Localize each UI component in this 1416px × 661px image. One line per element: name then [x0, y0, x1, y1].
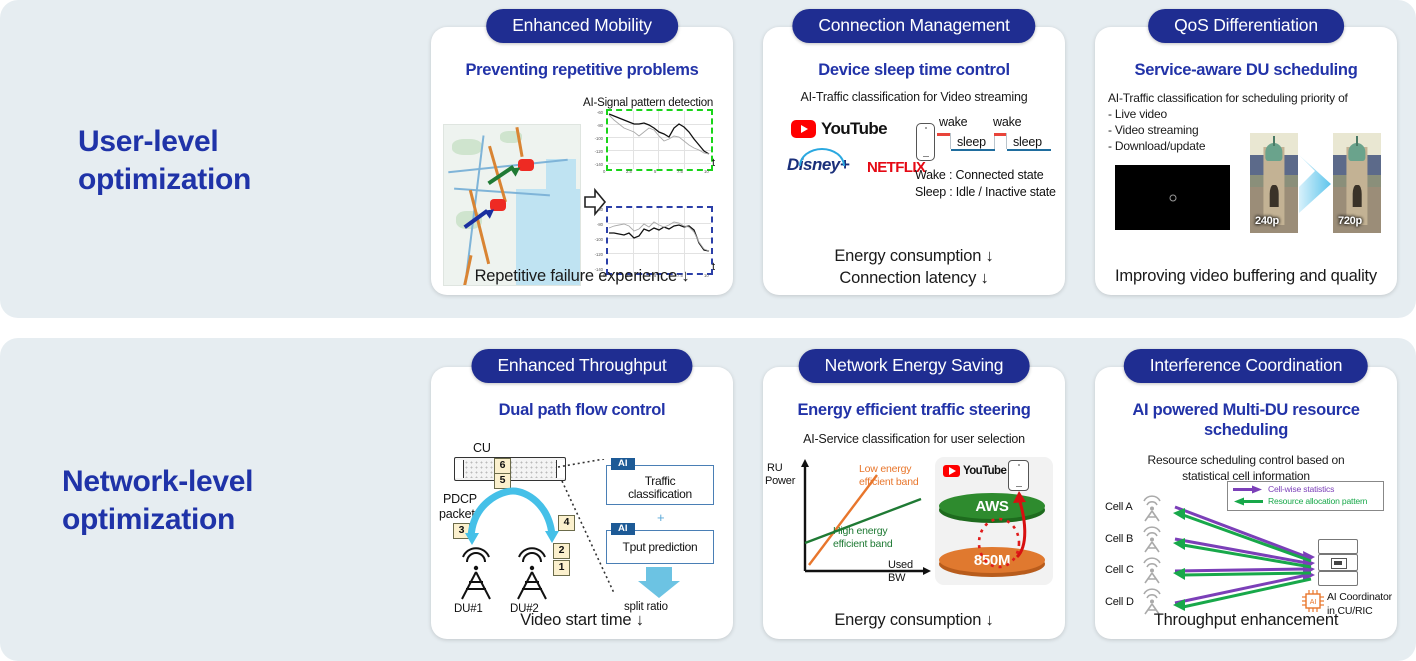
disney-arc [799, 148, 845, 166]
card-footer-interference-coordination: Throughput enhancement [1095, 610, 1397, 631]
card-footer-qos: Improving video buffering and quality [1095, 266, 1397, 287]
youtube-wordmark: YouTube [821, 119, 887, 139]
video-thumbnail-240p: 240p [1250, 133, 1298, 233]
plus-sign: + [657, 510, 665, 525]
card-title-qos-differentiation: QoS Differentiation [1148, 9, 1344, 43]
youtube-play-icon [791, 120, 816, 138]
card-enhanced-throughput[interactable]: Enhanced Throughput Dual path flow contr… [431, 367, 733, 639]
legend-sleep: Sleep : Idle / Inactive state [915, 184, 1056, 201]
rack-unit-middle [1318, 554, 1358, 571]
buffering-video-frame [1115, 165, 1230, 230]
y-axis-label-line2: Power [765, 475, 795, 487]
y-axis-label-line1: RU [767, 462, 783, 474]
wake-label-1: wake [939, 115, 967, 129]
card-title-enhanced-mobility: Enhanced Mobility [486, 9, 678, 43]
bullet-video-streaming: - Video streaming [1108, 123, 1198, 139]
card-footer-enhanced-mobility: Repetitive failure experience ↓ [431, 266, 733, 287]
legend-wake: Wake : Connected state [915, 167, 1044, 184]
card-subtitle-network-energy-saving: Energy efficient traffic steering [763, 400, 1065, 420]
wake-segment-1 [937, 133, 951, 136]
section-label-user-level: User-level optimization [78, 123, 378, 200]
cell-label-b: Cell B [1105, 533, 1133, 545]
legend-low-energy-line1: Low energy [859, 463, 911, 475]
card-footer-network-energy-saving: Energy consumption ↓ [763, 610, 1065, 631]
ai-box-tput-prediction: AI Tput prediction [606, 530, 714, 564]
card-enhanced-mobility[interactable]: Enhanced Mobility Preventing repetitive … [431, 27, 733, 295]
card-title-connection-management: Connection Management [792, 9, 1035, 43]
packet-6: 6 [494, 458, 511, 474]
sleep-label-2: sleep [1013, 135, 1042, 149]
cell-label-a: Cell A [1105, 501, 1133, 513]
footer-line-1: Energy consumption ↓ [763, 246, 1065, 267]
flow-arrow-icon [583, 187, 607, 217]
card-subtitle-interference-coordination: AI powered Multi-DU resource scheduling [1095, 400, 1397, 440]
legend-box: Cell-wise statistics Resource allocation… [1227, 481, 1384, 511]
card-title-network-energy-saving: Network Energy Saving [799, 349, 1030, 383]
card-subtitle-enhanced-throughput: Dual path flow control [431, 400, 733, 420]
card-qos-differentiation[interactable]: QoS Differentiation Service-aware DU sch… [1095, 27, 1397, 295]
legend-arrow-green-icon [1233, 497, 1263, 506]
cu-label: CU [473, 441, 491, 455]
section-label-line2: optimization [78, 161, 378, 199]
card-description-qos: AI-Traffic classification for scheduling… [1108, 91, 1393, 107]
legend-label-cell-wise: Cell-wise statistics [1268, 484, 1334, 494]
legend-label-resource-alloc: Resource allocation pattern [1268, 496, 1367, 506]
subtitle-line-2: scheduling [1095, 420, 1397, 440]
chart-axis-t: t [712, 157, 715, 169]
du2-tower-icon [509, 543, 555, 601]
card-connection-management[interactable]: Connection Management Device sleep time … [763, 27, 1065, 295]
subtitle-line-1: AI powered Multi-DU resource [1095, 400, 1397, 420]
split-flow-arrows [457, 485, 567, 545]
legend-arrow-purple-icon [1233, 485, 1263, 494]
cell-label-d: Cell D [1105, 596, 1134, 608]
card-description-connection-management: AI-Traffic classification for Video stre… [763, 89, 1065, 106]
phone-icon [916, 123, 935, 161]
svg-text:AI: AI [1310, 599, 1317, 606]
ai-box2-label: Tput prediction [607, 540, 713, 554]
card-footer-enhanced-throughput: Video start time ↓ [431, 610, 733, 631]
bullet-download-update: - Download/update [1108, 139, 1205, 155]
card-title-enhanced-throughput: Enhanced Throughput [471, 349, 692, 383]
section-label-line1: Network-level [62, 463, 382, 501]
video-thumbnail-720p: 720p [1333, 133, 1381, 233]
bullet-live-video: - Live video [1108, 107, 1167, 123]
quality-badge-before: 240p [1255, 215, 1279, 227]
youtube-logo: YouTube [791, 119, 887, 139]
map-green-area [452, 139, 482, 155]
card-network-energy-saving[interactable]: Network Energy Saving Energy efficient t… [763, 367, 1065, 639]
ai-tag: AI [611, 458, 635, 470]
sleep-label-1: sleep [957, 135, 986, 149]
map-thumbnail [443, 124, 581, 286]
section-label-line1: User-level [78, 123, 378, 161]
du1-tower-icon [453, 543, 499, 601]
steering-arrow-icon [971, 487, 1047, 571]
cell-label-c: Cell C [1105, 564, 1134, 576]
transition-1 [950, 133, 951, 149]
sleep-segment-2 [1007, 149, 1051, 151]
sleep-segment-1 [951, 149, 995, 151]
card-interference-coordination[interactable]: Interference Coordination AI powered Mul… [1095, 367, 1397, 639]
section-label-line2: optimization [62, 501, 382, 539]
x-axis-label-line1: Used [888, 559, 913, 571]
cell-tower-icons [1139, 495, 1165, 619]
youtube-play-icon [943, 465, 960, 477]
chart-caption-ai-signal: AI-Signal pattern detection [583, 97, 713, 109]
section-label-network-level: Network-level optimization [62, 463, 382, 540]
down-arrow-icon [636, 567, 682, 599]
ai-tag: AI [611, 523, 635, 535]
wake-label-2: wake [993, 115, 1021, 129]
youtube-wordmark: YouTube [963, 465, 1006, 477]
card-description-line1: Resource scheduling control based on [1095, 453, 1397, 469]
quality-badge-after: 720p [1338, 215, 1362, 227]
ai-box-traffic-classification: AI Traffic classification [606, 465, 714, 505]
youtube-logo: YouTube [943, 465, 1006, 477]
disney-plus-logo: Disney+ [787, 155, 849, 175]
legend-high-energy-line2: efficient band [833, 538, 892, 550]
footer-line-2: Connection latency ↓ [763, 268, 1065, 289]
ai-coordinator-line1: AI Coordinator [1327, 591, 1392, 604]
transition-3 [1006, 133, 1007, 149]
card-title-interference-coordination: Interference Coordination [1124, 349, 1368, 383]
card-subtitle-connection-management: Device sleep time control [763, 60, 1065, 80]
card-subtitle-enhanced-mobility: Preventing repetitive problems [431, 60, 733, 80]
legend-high-energy-line1: High energy [833, 525, 887, 537]
rack-unit-bottom [1318, 571, 1358, 586]
rack-unit-top [1318, 539, 1358, 554]
legend-low-energy-line2: efficient band [859, 476, 918, 488]
ai-box1-line2: classification [607, 487, 713, 501]
x-axis-label-line2: BW [888, 572, 905, 584]
card-footer-connection-management: Energy consumption ↓ Connection latency … [763, 246, 1065, 289]
upgrade-arrow-icon [1297, 153, 1333, 220]
card-description-energy: AI-Service classification for user selec… [763, 431, 1065, 448]
map-water-inlet [546, 159, 576, 199]
card-subtitle-qos-differentiation: Service-aware DU scheduling [1095, 60, 1397, 80]
